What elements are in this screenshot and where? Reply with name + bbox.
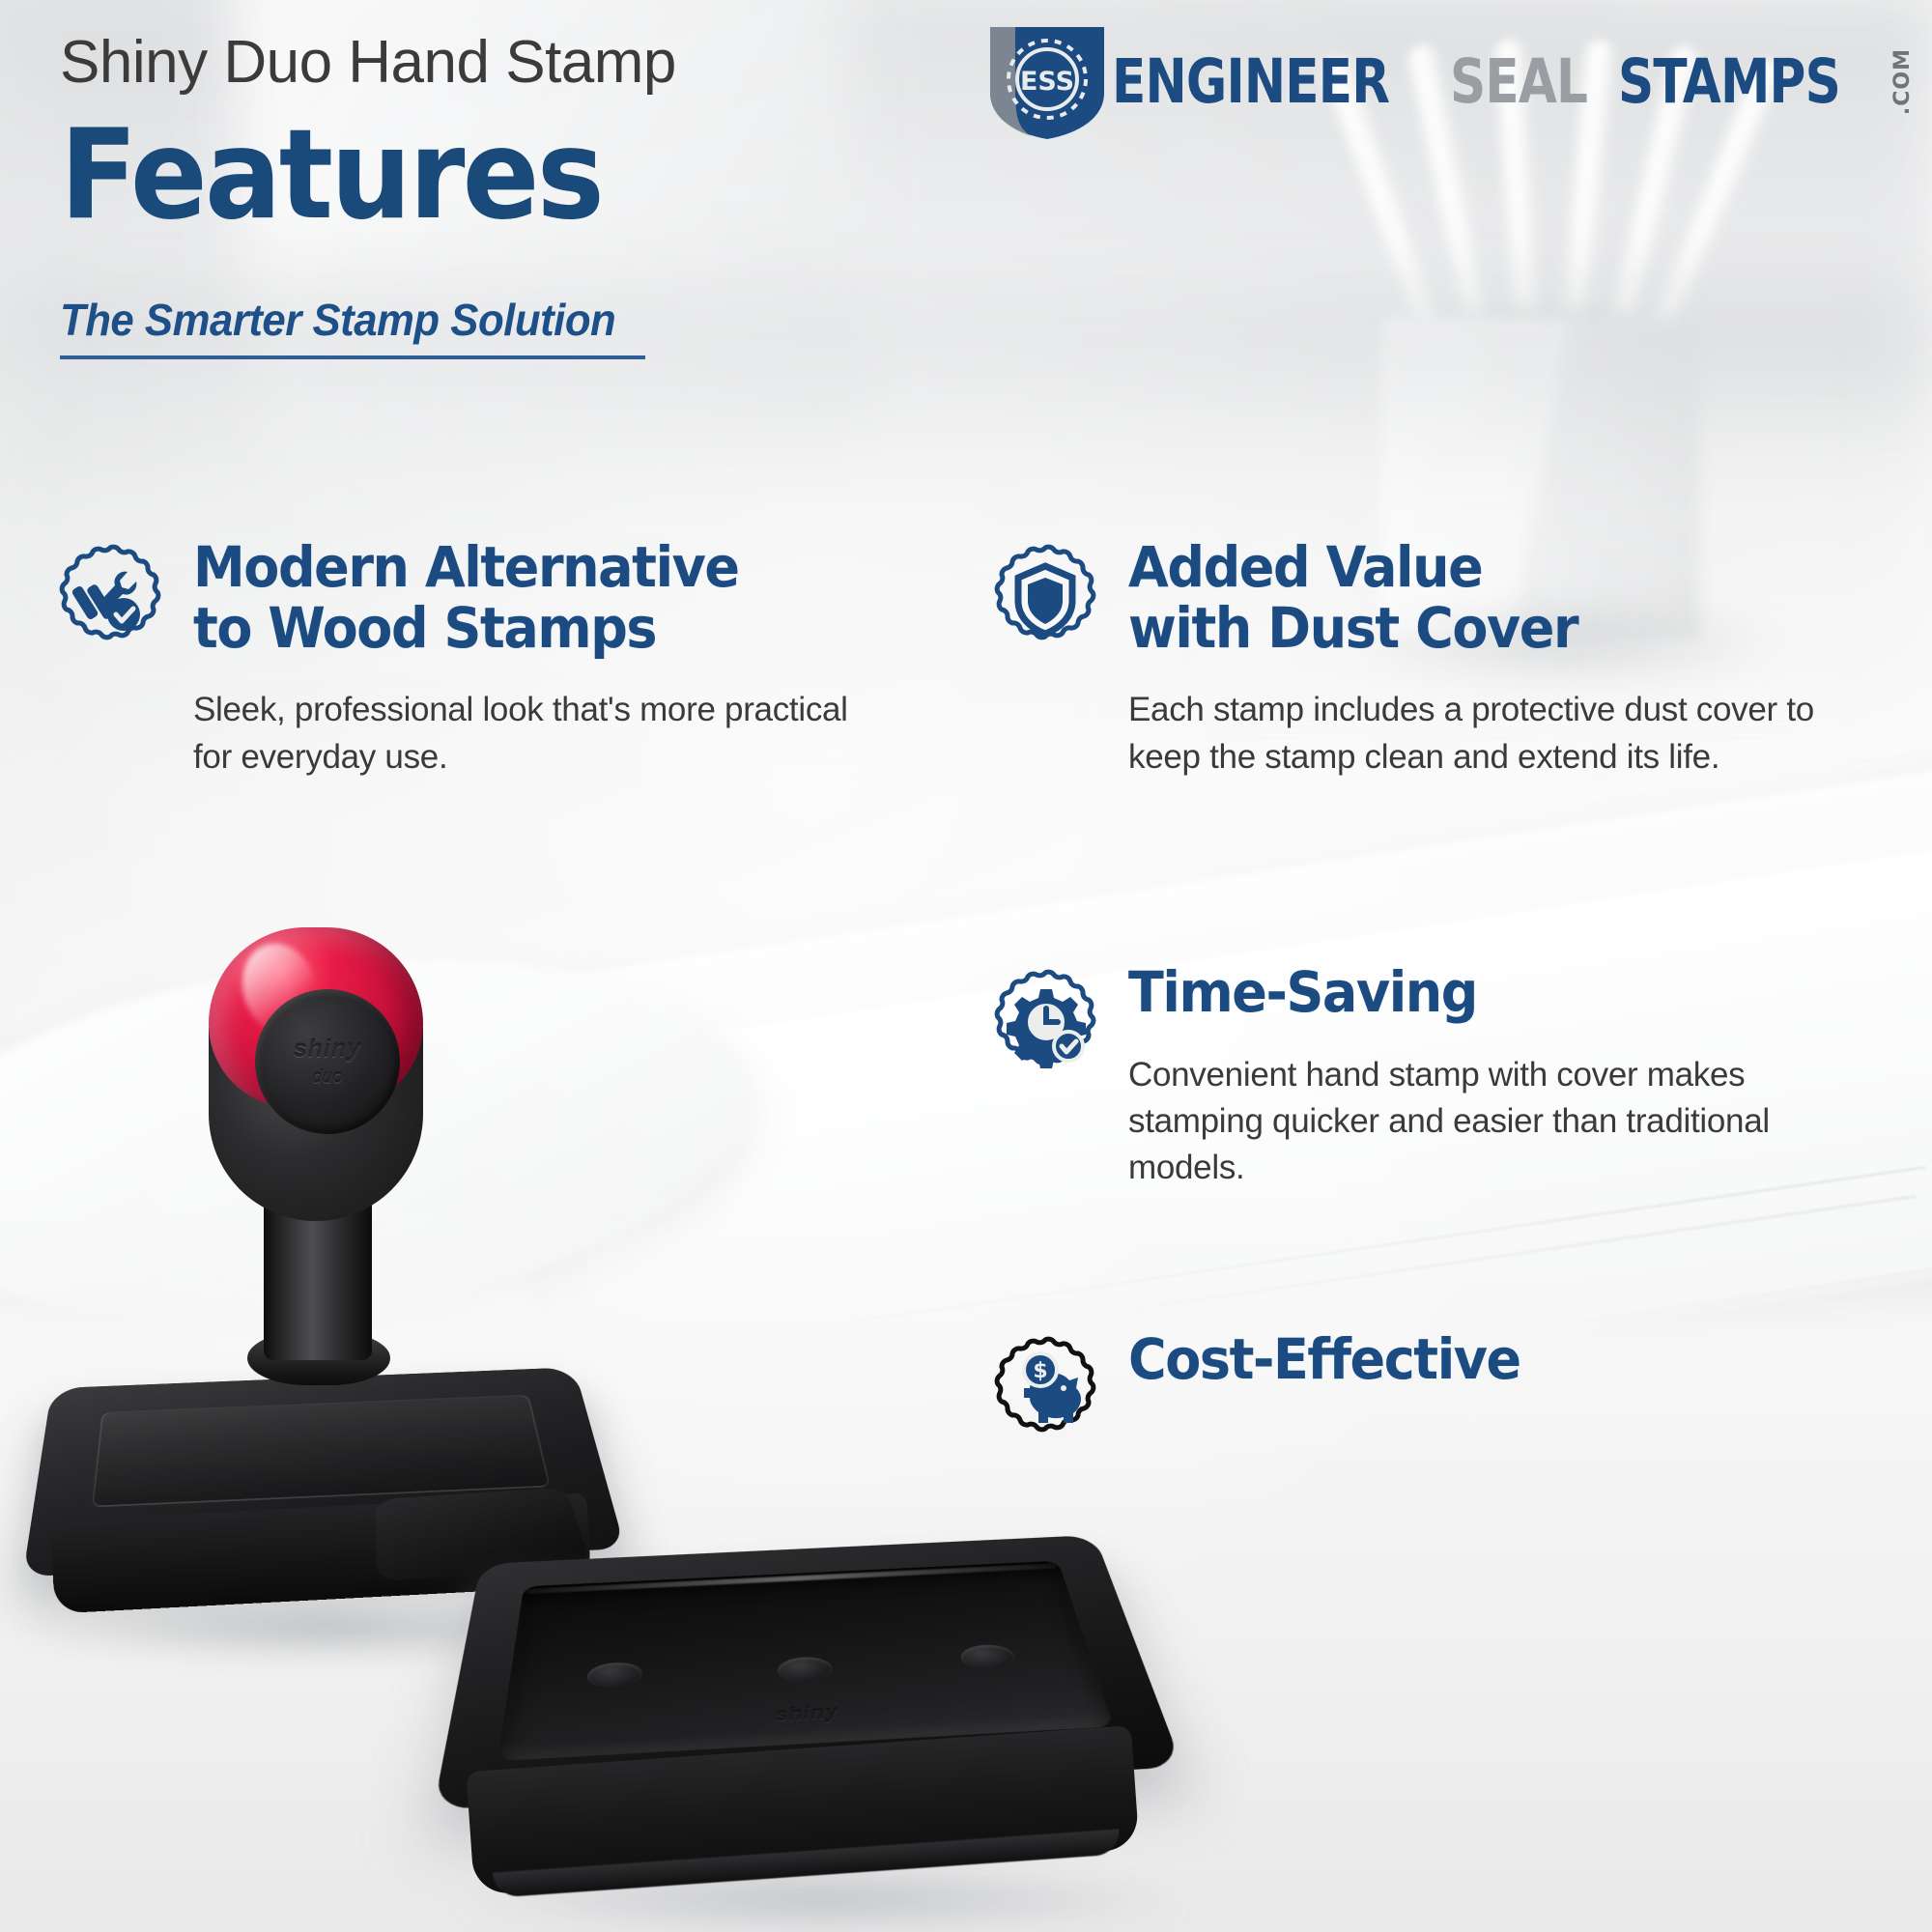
svg-text:$: $ xyxy=(1033,1359,1047,1383)
logo-word-engineer: ENGINEER xyxy=(1112,51,1389,112)
subtitle: The Smarter Stamp Solution xyxy=(60,294,615,346)
feature-description: Sleek, professional look that's more pra… xyxy=(193,687,883,781)
feature-modern-alternative: Modern Alternative to Wood Stamps Sleek,… xyxy=(52,537,883,781)
feature-title: Added Value with Dust Cover xyxy=(1128,537,1805,658)
feature-title-line1: Cost-Effective xyxy=(1128,1329,1805,1390)
cavity-boss xyxy=(777,1656,834,1684)
feature-body: Cost-Effective xyxy=(1128,1329,1857,1449)
gear-clock-check-badge-icon xyxy=(987,966,1103,1082)
feature-title-line2: to Wood Stamps xyxy=(193,598,835,659)
svg-text:ESS: ESS xyxy=(1020,67,1074,97)
feature-description: Each stamp includes a protective dust co… xyxy=(1128,687,1857,781)
feature-body: Modern Alternative to Wood Stamps Sleek,… xyxy=(193,537,883,781)
feature-title-line2: with Dust Cover xyxy=(1128,598,1805,659)
shield-badge-icon xyxy=(987,541,1103,657)
infographic-canvas: Shiny Duo Hand Stamp Features The Smarte… xyxy=(0,0,1932,1932)
subtitle-group: The Smarter Stamp Solution xyxy=(60,294,645,359)
cavity-boss xyxy=(958,1644,1018,1671)
stamp-brand-disc: shiny duo xyxy=(255,989,400,1134)
logo-wordmark: ENGINEER SEAL STAMPS .COM xyxy=(1112,48,1915,115)
ess-shield-gear-icon: ESS xyxy=(986,21,1108,143)
stamp-model-emboss: duo xyxy=(312,1067,343,1089)
feature-title: Cost-Effective xyxy=(1128,1329,1805,1390)
cavity-boss xyxy=(586,1662,643,1690)
feature-title: Modern Alternative to Wood Stamps xyxy=(193,537,835,658)
feature-title-line1: Time-Saving xyxy=(1128,962,1805,1023)
feature-title-line1: Added Value xyxy=(1128,537,1805,598)
feature-title: Time-Saving xyxy=(1128,962,1805,1023)
logo-word-stamps: STAMPS xyxy=(1618,51,1840,112)
dust-cover-brand-emboss: shiny xyxy=(775,1702,839,1726)
subtitle-underline xyxy=(60,355,645,359)
feature-time-saving: Time-Saving Convenient hand stamp with c… xyxy=(987,962,1857,1192)
tools-check-badge-icon xyxy=(52,541,168,657)
feature-cost-effective: $ Cost-Effective xyxy=(987,1329,1857,1449)
stamp-brand-emboss: shiny xyxy=(294,1036,361,1064)
logo-tld: .COM xyxy=(1890,48,1915,115)
feature-added-value-dust-cover: Added Value with Dust Cover Each stamp i… xyxy=(987,537,1857,781)
dust-cover-product: shiny xyxy=(464,1459,1217,1913)
feature-description: Convenient hand stamp with cover makes s… xyxy=(1128,1052,1857,1192)
logo-word-seal: SEAL xyxy=(1450,51,1587,112)
feature-body: Added Value with Dust Cover Each stamp i… xyxy=(1128,537,1857,781)
brand-logo[interactable]: ESS ENGINEER SEAL STAMPS .COM xyxy=(986,21,1915,143)
feature-body: Time-Saving Convenient hand stamp with c… xyxy=(1128,962,1857,1192)
piggy-bank-badge-icon: $ xyxy=(987,1333,1103,1449)
feature-title-line1: Modern Alternative xyxy=(193,537,835,598)
